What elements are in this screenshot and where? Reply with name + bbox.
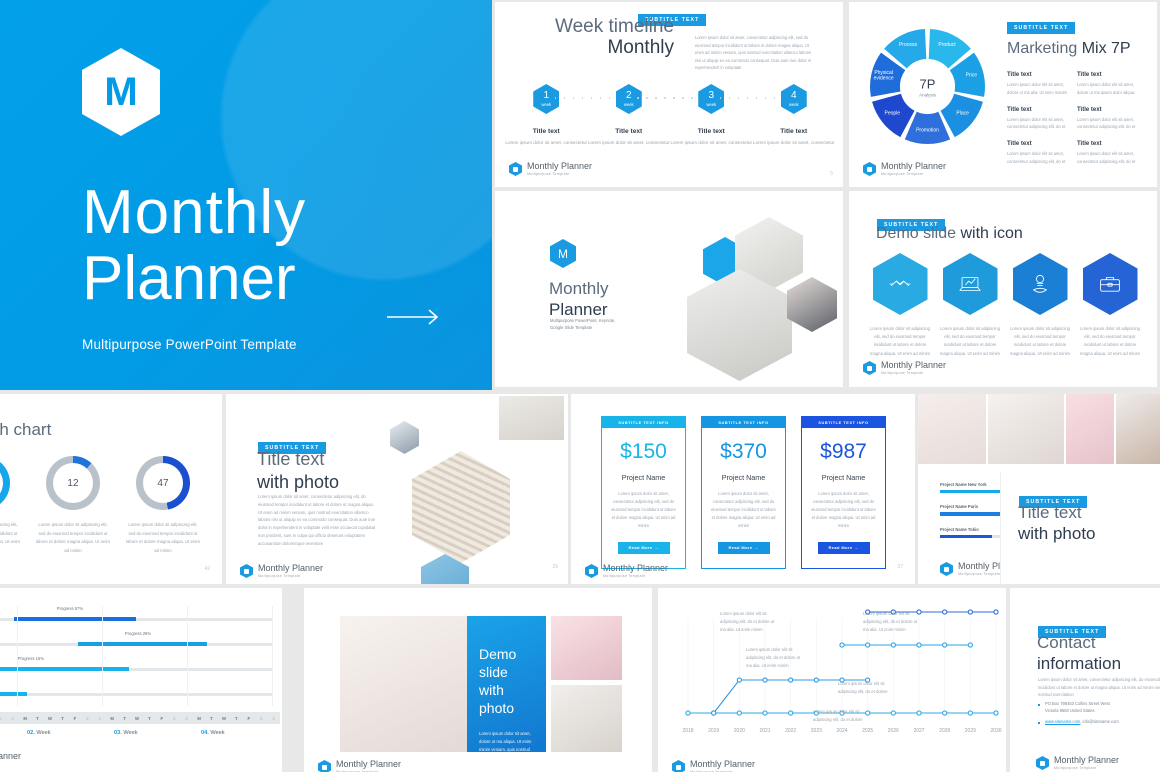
mix-item-grid: Title textLorem ipsum dolor elit sit ame… xyxy=(1007,72,1147,176)
week-title-line1: Week timeline xyxy=(539,16,674,37)
pricing-card-row: SUBTITLE TEXT INFO$150Project NameLorem … xyxy=(601,416,886,569)
week-body-text: Lorem ipsum dolor sit amet, consectetur … xyxy=(695,34,815,72)
svg-text:2022: 2022 xyxy=(785,728,796,734)
laptop-chart-icon xyxy=(957,271,983,297)
week-hexagon-icon: 1week xyxy=(533,84,559,114)
mix-title: Marketing Mix 7P xyxy=(1007,40,1147,58)
gantt-bar xyxy=(14,617,136,621)
brand-name: Monthly Planner xyxy=(603,564,668,573)
week-step-title: Title text xyxy=(533,128,560,135)
next-arrow-icon[interactable] xyxy=(385,306,445,328)
brand-hexagon-icon xyxy=(509,162,522,176)
brand-hexagon-icon xyxy=(672,760,685,772)
planner-title: Monthly Planner xyxy=(549,279,609,320)
marketing-mix-slide: ProductPricePlacePromotionPeoplePhysical… xyxy=(849,2,1157,187)
mix-item-title: Title text xyxy=(1077,72,1140,78)
hex-photo-texture-large xyxy=(412,451,510,563)
gantt-row: Project Name MoscowProgress 24% xyxy=(0,681,280,706)
pricing-description: Lorem ipsum dolor sit amet, consectetur … xyxy=(611,490,676,530)
gantt-chart-slide: Project Name New YorkProgress 57%Project… xyxy=(0,588,282,772)
demo-blue-panel: Demoslidewithphoto Lorem ipsum dolor sit… xyxy=(467,616,546,752)
contact-slide: SUBTITLE TEXT Contact information Lorem … xyxy=(1010,588,1160,772)
icon-card[interactable]: Lorem ipsum dolor sit adipiscing elit, s… xyxy=(1079,253,1141,358)
gantt-day-cell: T xyxy=(118,716,130,721)
mix-item: Title textLorem ipsum dolor elit sit ame… xyxy=(1007,141,1077,166)
svg-text:2029: 2029 xyxy=(965,728,976,734)
mix-item-text: Lorem ipsum dolor elit sit amet, dolore … xyxy=(1007,81,1070,97)
gantt-day-cell: M xyxy=(106,716,118,721)
gantt-day-cell: S xyxy=(81,716,93,721)
svg-text:Promotion: Promotion xyxy=(916,128,939,134)
week-timeline-slide: SUBTITLE TEXT Week timeline Monthly Lore… xyxy=(495,2,843,187)
svg-text:2030: 2030 xyxy=(990,728,1001,734)
brand-tagline: Multipurpose Template xyxy=(258,574,323,578)
photo-notebook xyxy=(1116,394,1160,464)
gantt-day-cell: W xyxy=(44,716,56,721)
brand-hexagon-icon xyxy=(318,760,331,772)
gantt-row: Project Name Las VegasProgress 15% xyxy=(0,656,280,681)
mix-content: SUBTITLE TEXT Marketing Mix 7P Title tex… xyxy=(1007,16,1147,176)
brand-tagline: Multipurpose Template xyxy=(881,371,946,375)
icon-hexagon xyxy=(943,253,998,315)
timeline-note-5: Lorem ipsum dolor elit sit adipiscing el… xyxy=(813,708,865,724)
gantt-day-cell: T xyxy=(143,716,155,721)
contact-title-line2: information xyxy=(1037,653,1121,674)
photo-title-line2: with photo xyxy=(257,471,339,494)
timeline-note-2: Lorem ipsum dolor elit sit adipiscing el… xyxy=(746,646,804,669)
demo-title-line: photo xyxy=(479,700,546,718)
pricing-band: SUBTITLE TEXT INFO xyxy=(602,417,685,428)
pricing-amount: $150 xyxy=(602,440,685,464)
svg-text:Place: Place xyxy=(956,111,969,117)
brand-tagline: Multipurpose Template xyxy=(603,574,668,578)
timeline-note-3: Lorem ipsum dolor elit sit adipiscing el… xyxy=(863,610,921,633)
icon-hexagon xyxy=(1083,253,1138,315)
gantt-week-label: 03. Week xyxy=(106,730,193,736)
title-with-photo-right-slide: SUBTITLE TEXT Title text with photo xyxy=(1000,472,1160,584)
icon-hexagon xyxy=(873,253,928,315)
gantt-day-cell: F xyxy=(243,716,255,721)
gantt-day-cell: S xyxy=(7,716,19,721)
svg-text:2025: 2025 xyxy=(862,728,873,734)
week-step-text: Lorem ipsum dolor sit amet, consectetur xyxy=(753,139,835,147)
photo-bedroom-lamp xyxy=(340,616,467,752)
pricing-description: Lorem ipsum dolor sit amet, consectetur … xyxy=(711,490,776,530)
planner-logo-hexagon: M xyxy=(550,239,576,268)
pricing-card[interactable]: SUBTITLE TEXT INFO$987Project NameLorem … xyxy=(801,416,886,569)
brand-name: Monthly Planner xyxy=(527,162,592,171)
growth-title: Growth chart xyxy=(0,420,51,440)
timeline-note-4: Lorem ipsum dolor elit sit adipiscing el… xyxy=(838,680,890,696)
week-step-title: Title text xyxy=(780,128,807,135)
address-line1: PO Box 789453 Collins Street West xyxy=(1045,701,1110,706)
contact-body-text: Lorem ipsum dolor sit amet, consectetur … xyxy=(1038,676,1160,699)
pricing-card[interactable]: SUBTITLE TEXT INFO$150Project NameLorem … xyxy=(601,416,686,569)
timeline-note-1: Lorem ipsum dolor elit sit adipiscing el… xyxy=(720,610,778,633)
gantt-day-cell: M xyxy=(193,716,205,721)
planner-logo-letter: M xyxy=(558,247,568,261)
gantt-day-cell: S xyxy=(168,716,180,721)
brand-hexagon-icon xyxy=(240,564,253,578)
svg-text:2028: 2028 xyxy=(939,728,950,734)
gantt-track xyxy=(0,693,272,696)
icon-card-text: Lorem ipsum dolor sit adipiscing elit, s… xyxy=(939,325,1001,358)
contact-details-list: PO Box 789453 Collins Street West Victor… xyxy=(1038,700,1160,725)
week-step-title: Title text xyxy=(698,128,725,135)
demo-icons-slide: SUBTITLE TEXT Demo slide with icon Lorem… xyxy=(849,191,1157,387)
week-step-text: Lorem ipsum dolor sit amet, consectetur xyxy=(588,139,670,147)
mix-item: Title textLorem ipsum dolor elit sit ame… xyxy=(1077,141,1147,166)
gantt-week-label: 02. Week xyxy=(19,730,106,736)
svg-text:Physicalevidence: Physicalevidence xyxy=(874,70,894,82)
brand-name: Monthly Planner xyxy=(1054,756,1119,765)
week-step[interactable]: 3weekTitle textLorem ipsum dolor sit ame… xyxy=(670,84,753,147)
icon-card-text: Lorem ipsum dolor sit adipiscing elit, s… xyxy=(869,325,931,358)
brand-tagline: Multipurpose Template xyxy=(0,762,21,766)
demo-text: Lorem ipsum dolor sit amet, dolore ut ma… xyxy=(479,730,534,754)
gantt-bar xyxy=(0,692,27,696)
icon-card[interactable]: Lorem ipsum dolor sit adipiscing elit, s… xyxy=(869,253,931,358)
brand-footer: Monthly Planner Multipurpose Template xyxy=(863,361,946,375)
page-number: 29 xyxy=(552,564,558,570)
logo-hexagon: M xyxy=(82,48,160,136)
wheel-center-caption: Analysis xyxy=(919,92,936,97)
donut-ring: 47 xyxy=(136,456,190,510)
page-number: 42 xyxy=(204,566,210,572)
brand-hexagon-icon xyxy=(585,564,598,578)
pricing-project-name: Project Name xyxy=(602,473,685,482)
briefcase-icon xyxy=(1097,271,1123,297)
icon-card-row: Lorem ipsum dolor sit adipiscing elit, s… xyxy=(869,253,1141,358)
email-text: , info@sitename.com xyxy=(1080,719,1119,724)
photo-flowers-bed xyxy=(988,394,1063,464)
svg-text:2023: 2023 xyxy=(811,728,822,734)
brand-name: Monthly Planner xyxy=(881,162,946,171)
week-hexagon-icon: 4week xyxy=(781,84,807,114)
photo-bedroom xyxy=(918,394,986,464)
progress-label: Project Name Paris xyxy=(940,504,978,509)
week-step[interactable]: 4weekTitle textLorem ipsum dolor sit ame… xyxy=(753,84,836,147)
svg-text:2021: 2021 xyxy=(759,728,770,734)
photo-strip xyxy=(918,394,1160,464)
mix-item-text: Lorem ipsum dolor elit sit amet, consect… xyxy=(1007,150,1070,166)
gantt-gridline xyxy=(272,606,273,706)
brand-name: Monthly Planner xyxy=(336,760,401,769)
week-hexagon-icon: 2week xyxy=(616,84,642,114)
gantt-day-cell: S xyxy=(180,716,192,721)
progress-fill xyxy=(940,535,992,538)
gantt-day-cell: S xyxy=(255,716,267,721)
gantt-day-cell: W xyxy=(131,716,143,721)
mix-item-title: Title text xyxy=(1007,141,1070,147)
year-timeline-slide: 2018201920202021202220232024202520262027… xyxy=(658,588,1006,772)
photo-cactus xyxy=(551,685,622,752)
mix-item-text: Lorem ipsum dolor elit sit amet, consect… xyxy=(1077,116,1140,132)
donut-row: 50Lorem ipsum dolor sit adipiscing elit,… xyxy=(0,456,208,555)
gantt-row: Project Name ParisProgress 28% xyxy=(0,631,280,656)
photo-succulent xyxy=(551,616,622,680)
icon-hexagon xyxy=(1013,253,1068,315)
gantt-day-cell: T xyxy=(31,716,43,721)
icon-card[interactable]: Lorem ipsum dolor sit adipiscing elit, s… xyxy=(939,253,1001,358)
svg-text:2019: 2019 xyxy=(708,728,719,734)
donut-value: 47 xyxy=(157,478,168,489)
week-hexagon-icon: 3week xyxy=(698,84,724,114)
gantt-day-cell: S xyxy=(93,716,105,721)
wheel-center-value: 7P xyxy=(919,76,936,91)
planner-subtitle: Multipurpose PowerPoint, Keynote, Google… xyxy=(550,317,625,331)
mix-item-text: Lorem ipsum dolor elit sit amet, dolore … xyxy=(1077,81,1140,97)
wheel-center-label: 7P Analysis xyxy=(919,76,936,97)
demo-title-line: with xyxy=(479,682,546,700)
week-step-text: Lorem ipsum dolor sit amet, consectetur xyxy=(670,139,752,147)
page-title: Monthly Planner xyxy=(82,181,492,311)
mix-item-title: Title text xyxy=(1007,107,1070,113)
read-more-button[interactable]: Read More → xyxy=(618,542,670,554)
cover-title-line2: Planner xyxy=(82,246,492,311)
brand-name: Monthly Planner xyxy=(690,760,755,769)
gantt-progress-label: Progress 57% xyxy=(57,606,83,611)
donut-value: 12 xyxy=(67,478,78,489)
gantt-day-cell: W xyxy=(218,716,230,721)
gantt-day-cell: S xyxy=(267,716,279,721)
brand-name: Monthly Planner xyxy=(881,361,946,370)
mix-item-text: Lorem ipsum dolor elit sit amet, consect… xyxy=(1007,116,1070,132)
timeline-line-chart: 2018201920202021202220232024202520262027… xyxy=(658,594,1006,754)
mix-item-title: Title text xyxy=(1007,72,1070,78)
icons-title: Demo slide with icon xyxy=(876,225,1023,243)
gantt-row-list: Project Name New YorkProgress 57%Project… xyxy=(0,606,280,706)
svg-text:2018: 2018 xyxy=(682,728,693,734)
brand-tagline: Multipurpose Template xyxy=(1054,766,1119,770)
donut-ring: 12 xyxy=(46,456,100,510)
brand-footer: Monthly Planner Multipurpose Template xyxy=(863,162,946,176)
icon-card[interactable]: Lorem ipsum dolor sit adipiscing elit, s… xyxy=(1009,253,1071,358)
donut-gauge: 47Lorem ipsum dolor sit adipiscing elit,… xyxy=(118,456,208,555)
gantt-day-cell: M xyxy=(19,716,31,721)
handshake-icon xyxy=(887,271,913,297)
gantt-gridline xyxy=(187,606,188,706)
photo-title: Title text with photo xyxy=(257,448,339,493)
brand-footer: Monthly Planner Multipurpose Template xyxy=(1036,756,1119,770)
gantt-bar xyxy=(0,667,129,671)
pricing-description: Lorem ipsum dolor sit amet, consectetur … xyxy=(811,490,876,530)
title-with-photo-slide: SUBTITLE TEXT Title text with photo Lore… xyxy=(226,394,568,584)
gantt-progress-label: Progress 15% xyxy=(18,656,44,661)
marketing-mix-wheel-chart: ProductPricePlacePromotionPeoplePhysical… xyxy=(865,24,990,149)
demo-title-line: slide xyxy=(479,664,546,682)
planner-title-line1: Monthly xyxy=(549,279,609,300)
donut-caption: Lorem ipsum dolor sit adipiscing elit, s… xyxy=(125,521,201,555)
pricing-project-name: Project Name xyxy=(702,473,785,482)
brand-tagline: Multipurpose Template xyxy=(527,172,592,176)
read-more-button[interactable]: Read More → xyxy=(818,542,870,554)
page-number: 5 xyxy=(830,171,833,177)
logo-letter: M xyxy=(104,72,137,112)
mix-item-title: Title text xyxy=(1077,141,1140,147)
mix-item: Title textLorem ipsum dolor elit sit ame… xyxy=(1007,72,1077,97)
photo2-title: Title text with photo xyxy=(1018,502,1096,545)
donut-caption: Lorem ipsum dolor sit adipiscing elit, s… xyxy=(0,521,21,555)
gantt-gridline xyxy=(17,606,18,706)
mix-item: Title textLorem ipsum dolor elit sit ame… xyxy=(1077,72,1147,97)
week-step-title: Title text xyxy=(615,128,642,135)
growth-chart-slide: Growth chart 50Lorem ipsum dolor sit adi… xyxy=(0,394,222,584)
progress-label: Project Name New York xyxy=(940,482,987,487)
icon-card-text: Lorem ipsum dolor sit adipiscing elit, s… xyxy=(1009,325,1071,358)
address-line2: Victoria 9583 United States xyxy=(1045,708,1095,713)
gantt-row: Project Name New YorkProgress 57% xyxy=(0,606,280,631)
gantt-progress-label: Progress 28% xyxy=(125,631,151,636)
icon-card-text: Lorem ipsum dolor sit adipiscing elit, s… xyxy=(1079,325,1141,358)
cover-title-line1: Monthly xyxy=(82,181,492,244)
progress-label: Project Name Tokio xyxy=(940,527,979,532)
gantt-day-cell: T xyxy=(230,716,242,721)
mix-item-text: Lorem ipsum dolor elit sit amet, consect… xyxy=(1077,150,1140,166)
week-step-list: 1weekTitle textLorem ipsum dolor sit ame… xyxy=(505,84,835,147)
brand-footer: Monthly Planner Multipurpose Template xyxy=(672,760,755,772)
contact-title: Contact information xyxy=(1037,632,1121,675)
demo-title-line: Demo xyxy=(479,646,546,664)
pricing-amount: $987 xyxy=(802,440,885,464)
gantt-day-cell: F xyxy=(69,716,81,721)
gantt-week-labels: 01. Week02. Week03. Week04. Week xyxy=(0,730,280,736)
gantt-week-label: 04. Week xyxy=(193,730,280,736)
photo-plant-topright xyxy=(499,396,564,440)
donut-caption: Lorem ipsum dolor sit adipiscing elit, s… xyxy=(35,521,111,555)
gantt-day-cell: T xyxy=(205,716,217,721)
week-title-block: Week timeline Monthly xyxy=(539,16,674,59)
brand-name: Monthly Planner xyxy=(0,752,21,761)
hex-photo-metal-cube xyxy=(390,421,419,454)
contact-address: PO Box 789453 Collins Street West Victor… xyxy=(1038,700,1160,714)
pricing-slide: SUBTITLE TEXT INFO$150Project NameLorem … xyxy=(571,394,915,584)
photo2-title-line2: with photo xyxy=(1018,523,1096,544)
brand-footer: Monthly Planner Multipurpose Template xyxy=(0,752,21,766)
brand-hexagon-icon xyxy=(863,361,876,375)
brand-hexagon-icon xyxy=(863,162,876,176)
idea-bulb-icon xyxy=(1027,271,1053,297)
photo-body-text: Lorem ipsum dolor sit amet, consectetur … xyxy=(258,493,378,547)
demo-photo-slide: Demoslidewithphoto Lorem ipsum dolor sit… xyxy=(304,588,652,772)
brand-hexagon-icon xyxy=(940,562,953,576)
svg-text:Process: Process xyxy=(899,42,918,48)
mix-item: Title textLorem ipsum dolor elit sit ame… xyxy=(1077,107,1147,132)
photo2-title-line1: Title text xyxy=(1018,502,1096,523)
week-title-line2: Monthly xyxy=(539,37,674,58)
gantt-day-header: MTWTFSSMTWTFSSMTWTFSSMTWTFSS xyxy=(0,712,280,724)
gantt-day-cell: T xyxy=(56,716,68,721)
week-step[interactable]: 2weekTitle textLorem ipsum dolor sit ame… xyxy=(588,84,671,147)
pricing-project-name: Project Name xyxy=(802,473,885,482)
cover-subtitle: Multipurpose PowerPoint Template xyxy=(82,337,492,352)
gantt-day-cell: F xyxy=(156,716,168,721)
gantt-gridline xyxy=(102,606,103,706)
hex-photo-blueberries xyxy=(787,277,837,332)
gantt-week-label: 01. Week xyxy=(0,730,19,736)
week-step-text: Lorem ipsum dolor sit amet, consectetur xyxy=(505,139,587,147)
pricing-amount: $370 xyxy=(702,440,785,464)
donut-gauge: 12Lorem ipsum dolor sit adipiscing elit,… xyxy=(28,456,118,555)
svg-text:Product: Product xyxy=(938,42,956,48)
contact-web: www.sitename.com, info@sitename.com xyxy=(1038,718,1160,725)
svg-text:Price: Price xyxy=(966,72,978,78)
brand-name: Monthly Planner xyxy=(258,564,323,573)
pricing-card[interactable]: SUBTITLE TEXT INFO$370Project NameLorem … xyxy=(701,416,786,569)
photo-succulent-pink xyxy=(1066,394,1114,464)
svg-text:2020: 2020 xyxy=(734,728,745,734)
pricing-band: SUBTITLE TEXT INFO xyxy=(802,417,885,428)
brand-footer: Monthly Planner Multipurpose Template xyxy=(318,760,401,772)
photo-title-line1: Title text xyxy=(257,448,339,471)
week-step[interactable]: 1weekTitle textLorem ipsum dolor sit ame… xyxy=(505,84,588,147)
mix-item-title: Title text xyxy=(1077,107,1140,113)
pricing-band: SUBTITLE TEXT INFO xyxy=(702,417,785,428)
brand-footer: Monthly Planner Multipurpose Template xyxy=(240,564,323,578)
page-number: 37 xyxy=(897,564,903,570)
cover-slide: M Monthly Planner Multipurpose PowerPoin… xyxy=(0,0,492,390)
contact-title-line1: Contact xyxy=(1037,632,1121,653)
mix-item: Title textLorem ipsum dolor elit sit ame… xyxy=(1007,107,1077,132)
slide-grid: M Monthly Planner Multipurpose PowerPoin… xyxy=(0,0,1160,772)
website-link[interactable]: www.sitename.com xyxy=(1045,719,1080,724)
donut-ring: 50 xyxy=(0,456,10,510)
svg-text:2026: 2026 xyxy=(888,728,899,734)
planner-intro-slide: M Monthly Planner Multipurpose PowerPoin… xyxy=(495,191,843,387)
brand-tagline: Multipurpose Template xyxy=(881,172,946,176)
donut-gauge: 50Lorem ipsum dolor sit adipiscing elit,… xyxy=(0,456,28,555)
brand-footer: Monthly Planner Multipurpose Template xyxy=(509,162,592,176)
svg-text:People: People xyxy=(885,111,901,117)
brand-hexagon-icon xyxy=(1036,756,1049,770)
subtitle-chip: SUBTITLE TEXT xyxy=(1007,22,1075,34)
svg-text:2027: 2027 xyxy=(913,728,924,734)
demo-title: Demoslidewithphoto xyxy=(479,646,546,718)
brand-footer: Monthly Planner Multipurpose Template xyxy=(585,564,668,578)
read-more-button[interactable]: Read More → xyxy=(718,542,770,554)
svg-text:2024: 2024 xyxy=(836,728,847,734)
